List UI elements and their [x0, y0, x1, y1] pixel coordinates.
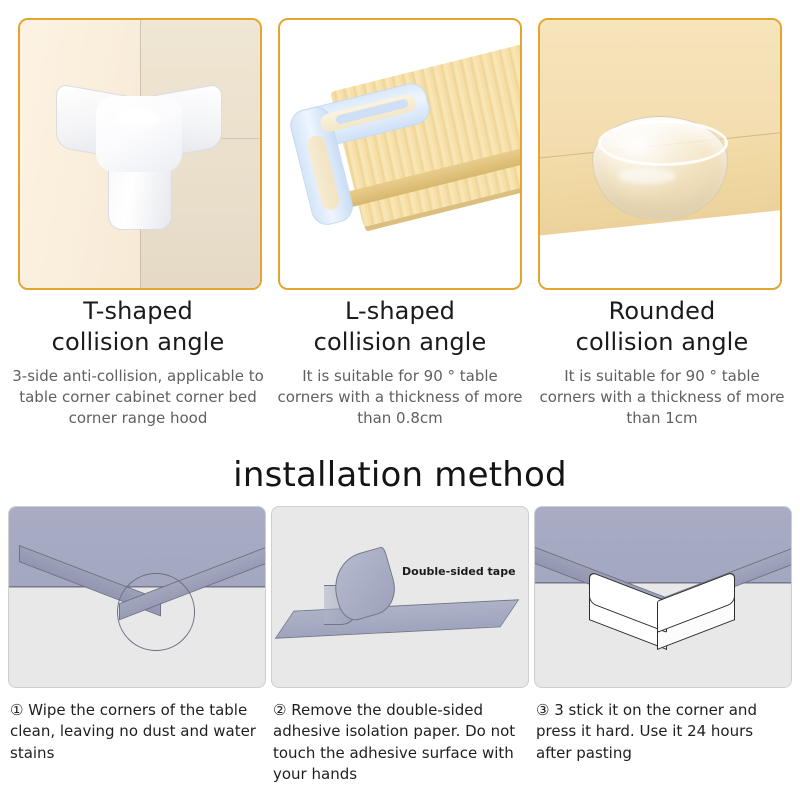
l-shaped-product-photo [280, 20, 520, 288]
product-title-line1: L-shaped [272, 296, 528, 327]
diagram-tape-strip [275, 599, 520, 638]
product-title-line2: collision angle [10, 327, 266, 358]
product-title-line1: Rounded [534, 296, 790, 327]
product-title-line1: T-shaped [10, 296, 266, 327]
product-infographic-page: T-shaped collision angle 3-side anti-col… [0, 0, 800, 800]
guard-gloss-highlight [116, 108, 160, 128]
rounded-product-photo [540, 20, 780, 288]
product-caption-t-shaped: T-shaped collision angle 3-side anti-col… [10, 296, 266, 429]
guard-ball-rim [598, 120, 728, 166]
installation-step-2-caption: ② Remove the double-sided adhesive isola… [273, 700, 527, 785]
product-title-rounded: Rounded collision angle [534, 296, 790, 357]
product-caption-rounded: Rounded collision angle It is suitable f… [534, 296, 790, 429]
t-shaped-guard-illustration [56, 82, 222, 230]
product-caption-l-shaped: L-shaped collision angle It is suitable … [272, 296, 528, 429]
corner-highlight-circle-icon [117, 573, 195, 651]
t-shaped-product-photo [20, 20, 260, 288]
installation-step-3-caption: ③ 3 stick it on the corner and press it … [536, 700, 790, 785]
double-sided-tape-label: Double-sided tape [402, 565, 516, 578]
installation-diagram-step-2: Double-sided tape [271, 506, 529, 688]
product-image-row [0, 0, 800, 292]
product-description-t-shaped: 3-side anti-collision, applicable to tab… [10, 366, 266, 428]
product-title-l-shaped: L-shaped collision angle [272, 296, 528, 357]
installation-diagram-row: Double-sided tape [0, 506, 800, 688]
product-title-t-shaped: T-shaped collision angle [10, 296, 266, 357]
guard-ball-highlight [618, 168, 676, 184]
product-card-l-shaped[interactable] [278, 18, 522, 290]
product-card-rounded[interactable] [538, 18, 782, 290]
installation-diagram-step-3 [534, 506, 792, 688]
rounded-guard-illustration [592, 116, 728, 220]
installation-step-caption-row: ① Wipe the corners of the table clean, l… [0, 700, 800, 785]
product-card-t-shaped[interactable] [18, 18, 262, 290]
installation-step-1-caption: ① Wipe the corners of the table clean, l… [10, 700, 264, 785]
product-title-line2: collision angle [272, 327, 528, 358]
installation-diagram-step-1 [8, 506, 266, 688]
product-description-l-shaped: It is suitable for 90 ° table corners wi… [272, 366, 528, 428]
installation-method-heading: installation method [0, 455, 800, 495]
product-caption-row: T-shaped collision angle 3-side anti-col… [0, 296, 800, 429]
product-description-rounded: It is suitable for 90 ° table corners wi… [534, 366, 790, 428]
product-title-line2: collision angle [534, 327, 790, 358]
